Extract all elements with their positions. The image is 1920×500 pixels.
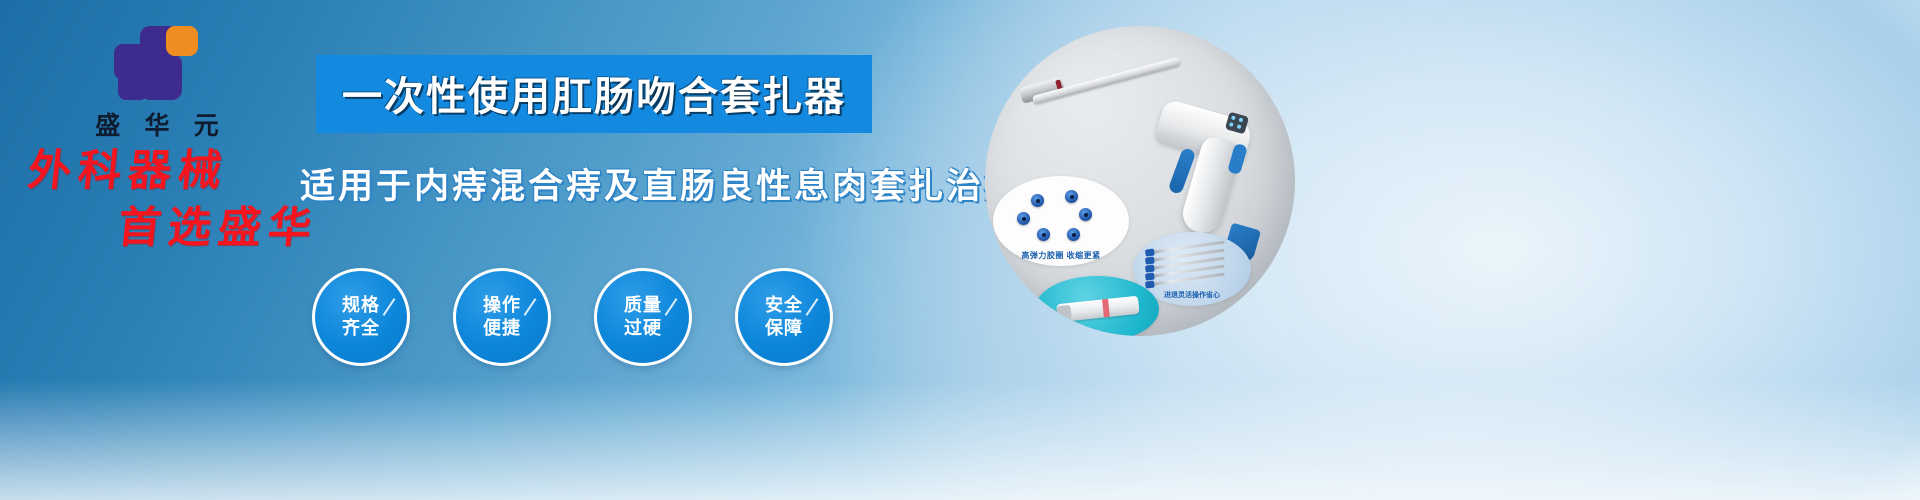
slash-icon (383, 298, 396, 316)
feature-badge-3-line1: 质量 (624, 294, 662, 317)
feature-badge-2-line1: 操作 (483, 294, 521, 317)
product-photo: 高弹力胶圈 收缩更紧 进退灵活操作省心 (985, 26, 1295, 336)
inset-tube (1035, 276, 1159, 336)
inset-rings-caption: 高弹力胶圈 收缩更紧 (993, 250, 1129, 261)
feature-badge-1[interactable]: 规格 齐全 (312, 268, 410, 366)
slash-icon (665, 298, 678, 316)
slogan-line-1: 外科器械 (26, 150, 321, 193)
slogan-line-2: 首选盛华 (116, 207, 321, 250)
feature-badge-4-line1: 安全 (765, 294, 803, 317)
brand-name: 盛 华 元 (62, 106, 252, 142)
calligraphy-slogan: 外科器械 首选盛华 (18, 150, 318, 250)
feature-badge-1-line1: 规格 (342, 294, 380, 317)
slash-icon (524, 298, 537, 316)
feature-badge-3-line2: 过硬 (624, 317, 662, 340)
feature-badge-4-line2: 保障 (765, 317, 803, 340)
feature-badge-4[interactable]: 安全 保障 (735, 268, 833, 366)
feature-badge-1-line2: 齐全 (342, 317, 380, 340)
headline-subtitle: 适用于内痔混合痔及直肠良性息肉套扎治疗 (300, 158, 1022, 209)
background-sheen (0, 0, 1920, 500)
bottom-fade (0, 380, 1920, 500)
headline-bar: 一次性使用肛肠吻合套扎器 (316, 55, 872, 133)
inset-elastic-rings: 高弹力胶圈 收缩更紧 (993, 176, 1129, 266)
brand-logo[interactable]: 盛 华 元 (62, 26, 252, 142)
feature-badge-2-line2: 便捷 (483, 317, 521, 340)
shenghuayuan-blocks-logo-icon (114, 26, 200, 100)
promotional-banner: 盛 华 元 外科器械 首选盛华 一次性使用肛肠吻合套扎器 适用于内痔混合痔及直肠… (0, 0, 1920, 500)
feature-badge-2[interactable]: 操作 便捷 (453, 268, 551, 366)
slash-icon (806, 298, 819, 316)
page-title: 一次性使用肛肠吻合套扎器 (342, 64, 846, 122)
feature-badge-3[interactable]: 质量 过硬 (594, 268, 692, 366)
feature-badge-list: 规格 齐全 操作 便捷 质量 过硬 安全 保障 (312, 268, 833, 366)
